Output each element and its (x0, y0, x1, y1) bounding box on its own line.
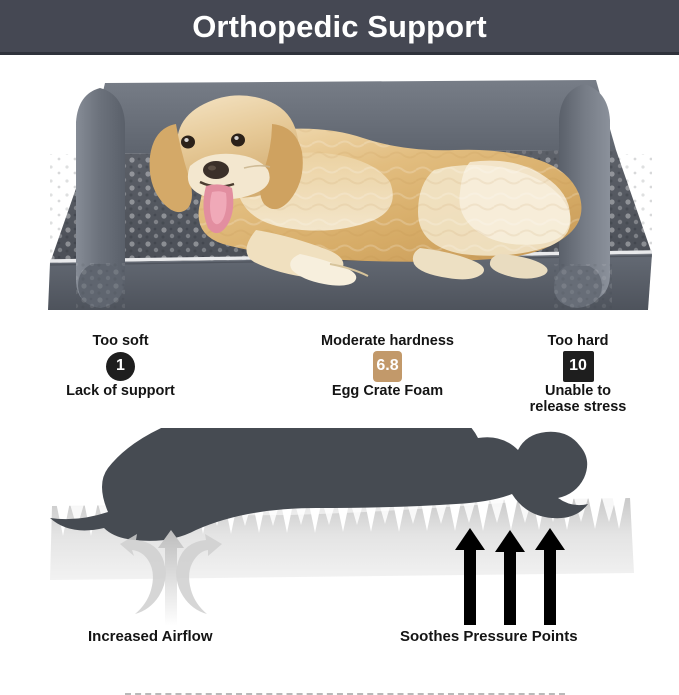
hardness-badge-6-8: 6.8 (373, 351, 402, 382)
label-increased-airflow: Increased Airflow (88, 629, 212, 644)
hardness-badge-10: 10 (563, 351, 594, 382)
hardness-stop-top-label: Moderate hardness (305, 333, 470, 350)
hardness-stop-top-label: Too soft (38, 333, 203, 350)
dog-on-bed-photo (0, 58, 679, 310)
foam-cross-section-diagram (0, 428, 679, 628)
hardness-scale: Too soft 1 Lack of support Moderate hard… (0, 325, 679, 430)
hardness-stop-bottom-label: Lack of support (38, 383, 203, 400)
header-banner: Orthopedic Support (0, 0, 679, 55)
hardness-stop-bottom-label: Egg Crate Foam (305, 383, 470, 400)
bottom-labels: Increased Airflow Soothes Pressure Point… (0, 627, 679, 654)
hardness-badge-1: 1 (106, 352, 135, 381)
hardness-stop-too-hard: Too hard 10 Unable to release stress (508, 333, 648, 416)
hardness-stop-top-label: Too hard (508, 333, 648, 350)
hardness-stop-bottom-label: Unable to release stress (508, 383, 648, 416)
product-photo (0, 58, 679, 310)
hardness-stop-moderate: Moderate hardness 6.8 Egg Crate Foam (305, 333, 470, 399)
label-soothes-pressure-points: Soothes Pressure Points (400, 629, 578, 644)
hardness-stop-too-soft: Too soft 1 Lack of support (38, 333, 203, 399)
page-title: Orthopedic Support (192, 11, 487, 42)
pressure-point-arrows (455, 528, 565, 625)
